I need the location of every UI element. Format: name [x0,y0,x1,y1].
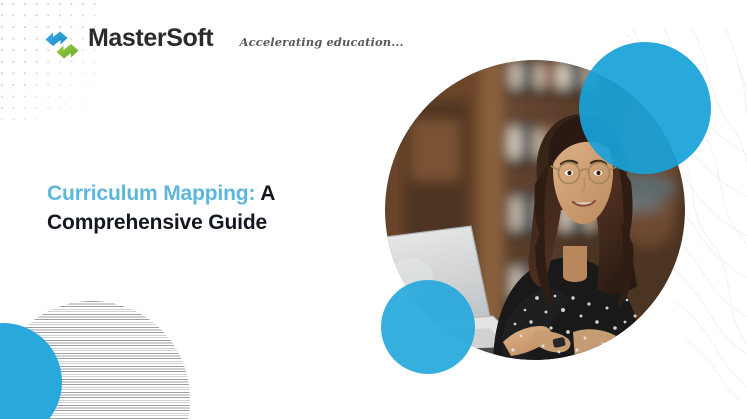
striped-disc-decoration [0,301,190,419]
brand-logo[interactable]: MasterSoft Accelerating education... [44,25,404,63]
brand-name: MasterSoft [88,24,213,52]
blue-disc-accent-top-right [579,42,711,174]
hero-image-group [379,50,709,380]
page-title: Curriculum Mapping: A Comprehensive Guid… [47,180,337,237]
brand-tagline: Accelerating education... [240,35,404,49]
pinwheel-arrows-icon [44,27,80,63]
blog-banner: MasterSoft Accelerating education... Cur… [0,0,747,419]
page-title-accent: Curriculum Mapping: [47,182,255,205]
blue-disc-decoration-bottom-left [0,323,62,419]
blue-disc-accent-bottom-left [381,280,475,374]
